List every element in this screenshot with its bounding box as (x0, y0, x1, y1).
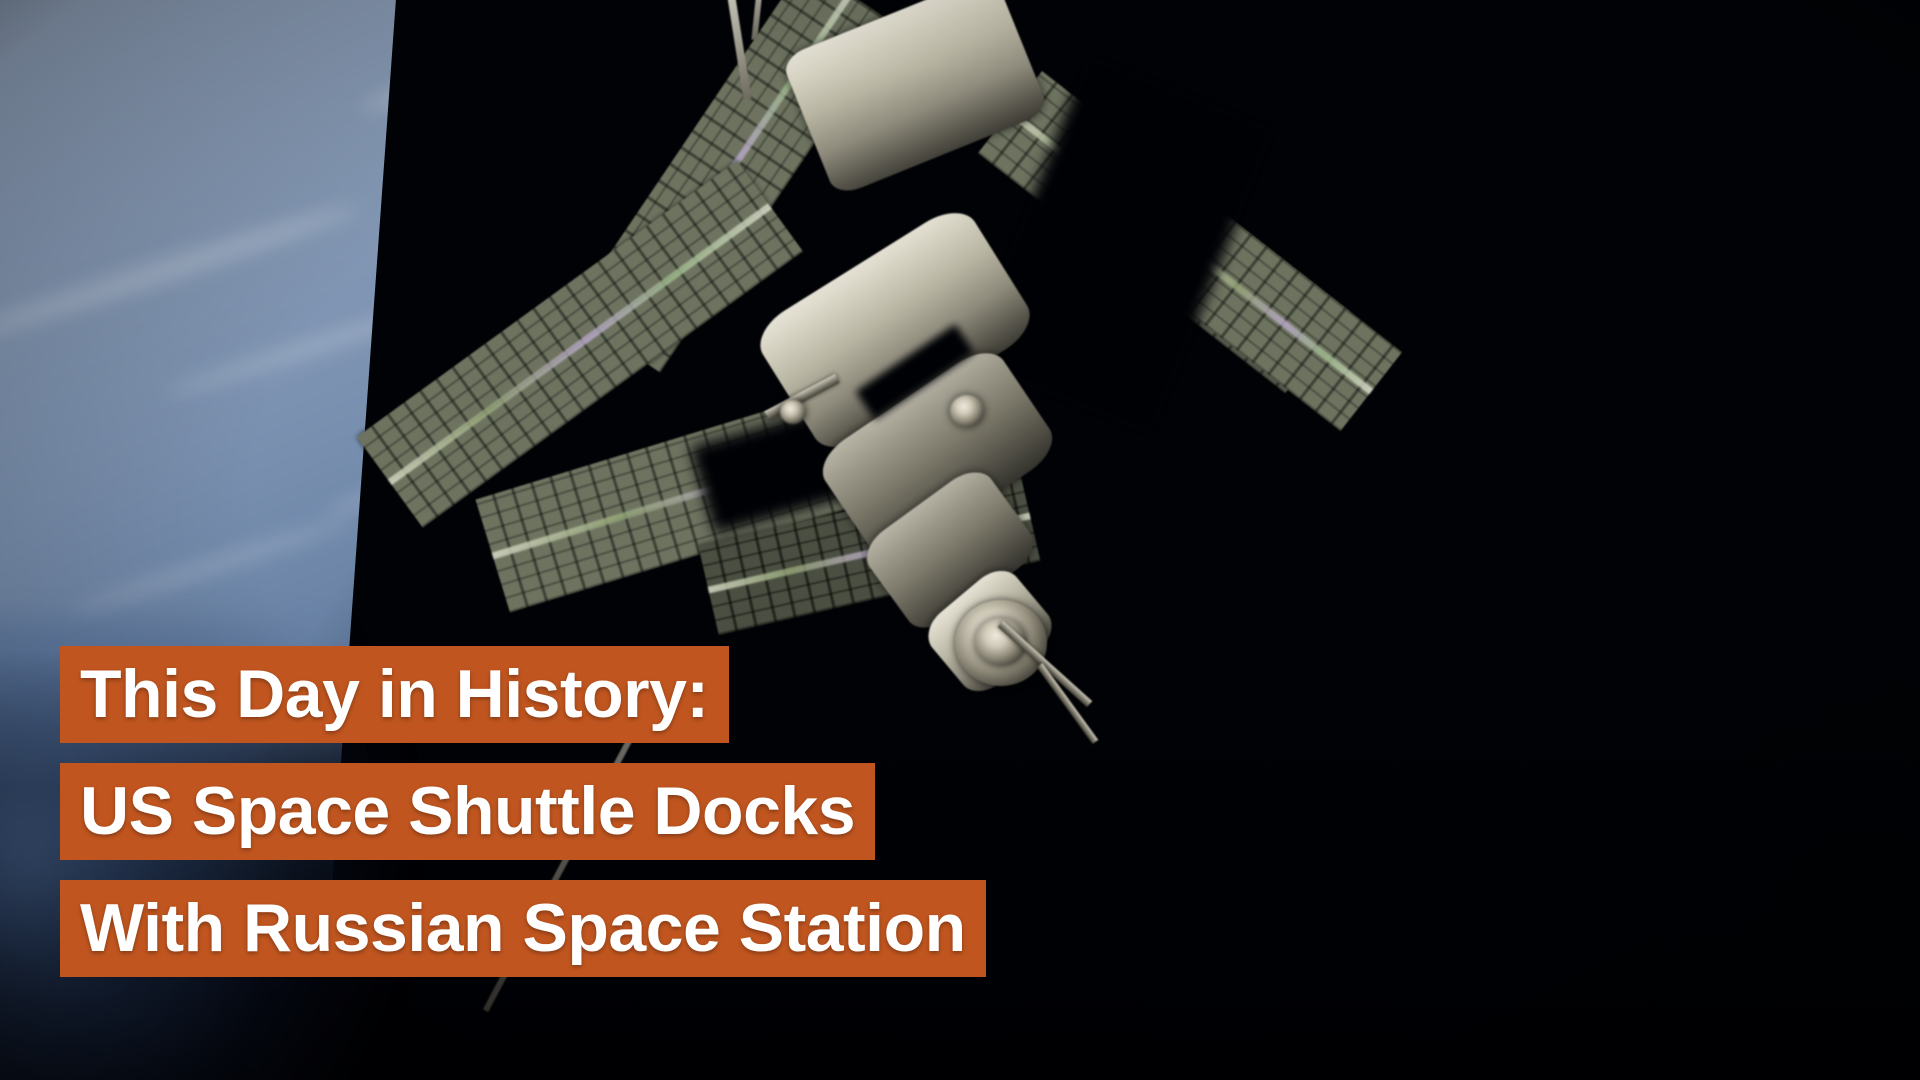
title-line-3: With Russian Space Station (60, 880, 986, 977)
title-card: This Day in History: US Space Shuttle Do… (60, 646, 986, 977)
handrail-fitting (950, 395, 984, 427)
title-line-1: This Day in History: (60, 646, 729, 743)
title-line-2: US Space Shuttle Docks (60, 763, 875, 860)
video-still-screenshot: This Day in History: US Space Shuttle Do… (0, 0, 1920, 1080)
sensor-pod (780, 400, 806, 424)
